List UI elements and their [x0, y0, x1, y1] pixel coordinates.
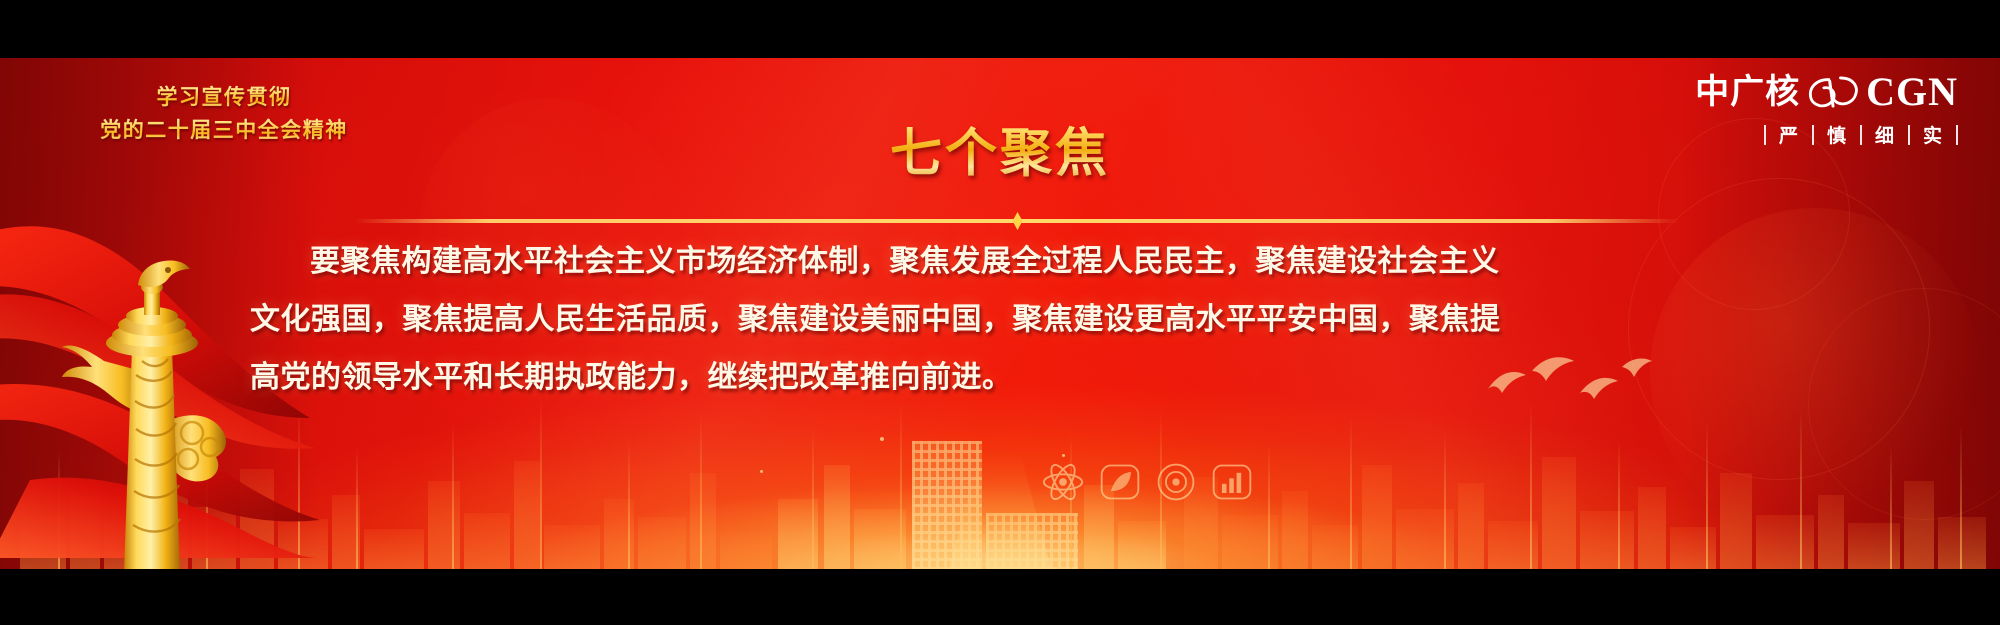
page-title-text: 七个聚焦 — [890, 111, 1110, 186]
slogan-char-3: 细 — [1862, 121, 1908, 148]
slogan-divider — [1860, 125, 1862, 145]
cgn-swirl-icon — [1804, 72, 1862, 112]
slogan-divider — [1812, 125, 1814, 145]
gold-divider — [355, 219, 1680, 223]
banner-root: 学习宣传贯彻 党的二十届三中全会精神 七个聚焦 要聚焦构建高水平社会主义市场经济… — [0, 0, 2000, 625]
slogan-divider — [1908, 125, 1910, 145]
logo-wordmark-row: 中广核 CGN — [1695, 72, 1958, 112]
target-icon — [1154, 459, 1198, 505]
bar-chart-icon — [1210, 459, 1254, 505]
kicker-line-1: 学习宣传贯彻 — [74, 82, 374, 115]
huabiao-column-icon — [40, 243, 260, 569]
body-line-1: 要聚焦构建高水平社会主义市场经济体制，聚焦发展全过程人民民主，聚焦建设社会主义 — [250, 236, 1750, 288]
icon-cluster — [1040, 459, 1260, 523]
logo-chinese-text: 中广核 — [1695, 75, 1800, 109]
cgn-logo[interactable]: 中广核 CGN 严 慎 细 实 — [1695, 72, 1958, 148]
banner-stage: 学习宣传贯彻 党的二十届三中全会精神 七个聚焦 要聚焦构建高水平社会主义市场经济… — [0, 58, 2000, 569]
body-paragraph: 要聚焦构建高水平社会主义市场经济体制，聚焦发展全过程人民民主，聚焦建设社会主义 … — [250, 236, 1750, 410]
letterbox-bar-top — [0, 0, 2000, 58]
slogan-divider — [1956, 125, 1958, 145]
atom-icon — [1040, 459, 1086, 505]
letterbox-bar-bottom — [0, 569, 2000, 625]
body-line-2: 文化强国，聚焦提高人民生活品质，聚焦建设美丽中国，聚焦建设更高水平平安中国，聚焦… — [250, 294, 1750, 346]
slogan-char-1: 严 — [1766, 121, 1812, 148]
logo-slogan: 严 慎 细 实 — [1695, 121, 1958, 148]
logo-english-text: CGN — [1866, 72, 1958, 112]
slogan-char-2: 慎 — [1814, 121, 1860, 148]
slogan-char-4: 实 — [1910, 121, 1956, 148]
leaf-icon — [1098, 459, 1142, 505]
slogan-divider — [1764, 125, 1766, 145]
body-line-3: 高党的领导水平和长期执政能力，继续把改革推向前进。 — [250, 352, 1750, 404]
